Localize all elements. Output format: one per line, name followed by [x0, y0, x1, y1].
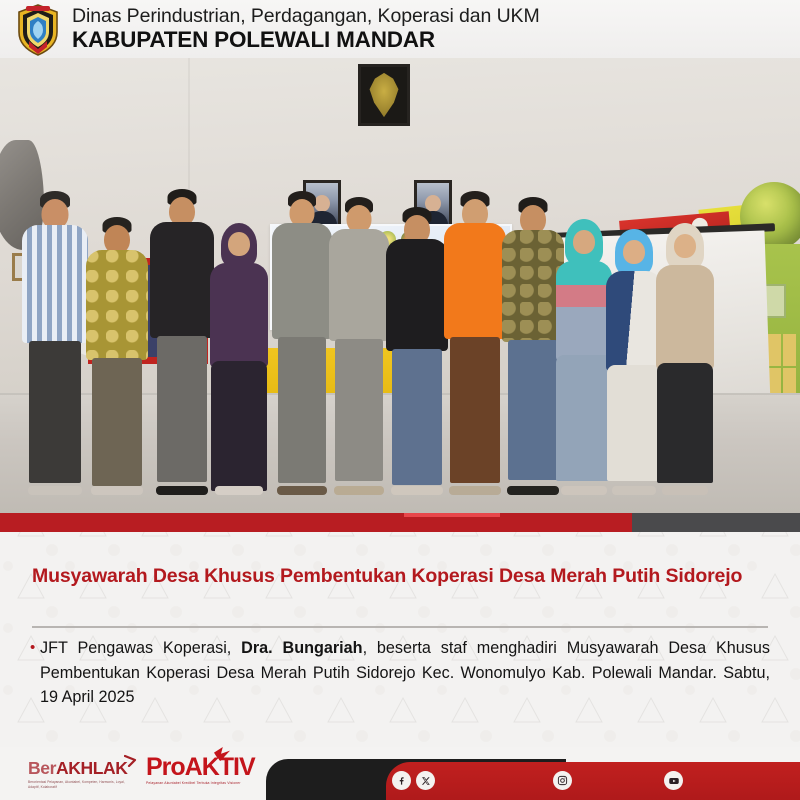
photo-scene: MUSYAWARAH DESA KHUSUS PEMBENTUKAN KOPER… — [0, 58, 800, 513]
section-divider — [0, 513, 800, 532]
proaktiv-tagline: Pelayanan Akuntabel Kredibel Terbuka Int… — [146, 781, 255, 785]
social-links-group-instagram — [553, 771, 577, 790]
divider-red-segment — [0, 513, 632, 532]
header-subtitle: Dinas Perindustrian, Perdagangan, Kopera… — [72, 6, 540, 27]
instagram-icon[interactable] — [553, 771, 572, 790]
event-photo: MUSYAWARAH DESA KHUSUS PEMBENTUKAN KOPER… — [0, 58, 800, 513]
content-divider-rule — [32, 626, 768, 628]
polewali-mandar-crest-icon — [16, 4, 60, 56]
berakhlak-logo: BerAKHLAK Berorientasi Pelayanan, Akunta… — [28, 758, 132, 790]
proaktiv-wordmark: ProAKTIV — [146, 753, 255, 781]
content-body: JFT Pengawas Koperasi, Dra. Bungariah, b… — [40, 636, 770, 710]
proaktiv-logo: ProAKTIV Pelayanan Akuntabel Kredibel Te… — [146, 755, 255, 785]
poster-header: Dinas Perindustrian, Perdagangan, Kopera… — [0, 0, 800, 58]
berakhlak-tagline: Berorientasi Pelayanan, Akuntabel, Kompe… — [28, 780, 132, 790]
social-links-group-youtube — [664, 771, 688, 790]
facebook-icon[interactable] — [392, 771, 411, 790]
page-title: Musyawarah Desa Khusus Pembentukan Koper… — [32, 564, 768, 589]
attendee — [206, 223, 272, 491]
poster-root: Dinas Perindustrian, Perdagangan, Kopera… — [0, 0, 800, 800]
footer-red-shape — [386, 762, 800, 800]
attendees-group — [0, 58, 800, 513]
youtube-icon[interactable] — [664, 771, 683, 790]
body-text-part-1: JFT Pengawas Koperasi, — [40, 639, 241, 657]
content-bullet-row: • JFT Pengawas Koperasi, Dra. Bungariah,… — [30, 636, 770, 710]
x-twitter-icon[interactable] — [416, 771, 435, 790]
berakhlak-acronym: AKHLAK — [56, 758, 127, 778]
header-title: KABUPATEN POLEWALI MANDAR — [72, 28, 540, 52]
check-mark-icon — [124, 751, 137, 764]
social-links-group-primary — [392, 771, 440, 790]
divider-dark-segment — [632, 513, 800, 532]
content-section: Musyawarah Desa Khusus Pembentukan Koper… — [0, 532, 800, 747]
body-text-bold-name: Dra. Bungariah — [241, 639, 362, 657]
bullet-marker: • — [30, 636, 40, 660]
berakhlak-prefix: Ber — [28, 758, 56, 778]
divider-accent-segment — [404, 513, 500, 517]
attendee — [18, 191, 92, 491]
attendee — [652, 223, 718, 491]
attendee — [82, 203, 152, 491]
